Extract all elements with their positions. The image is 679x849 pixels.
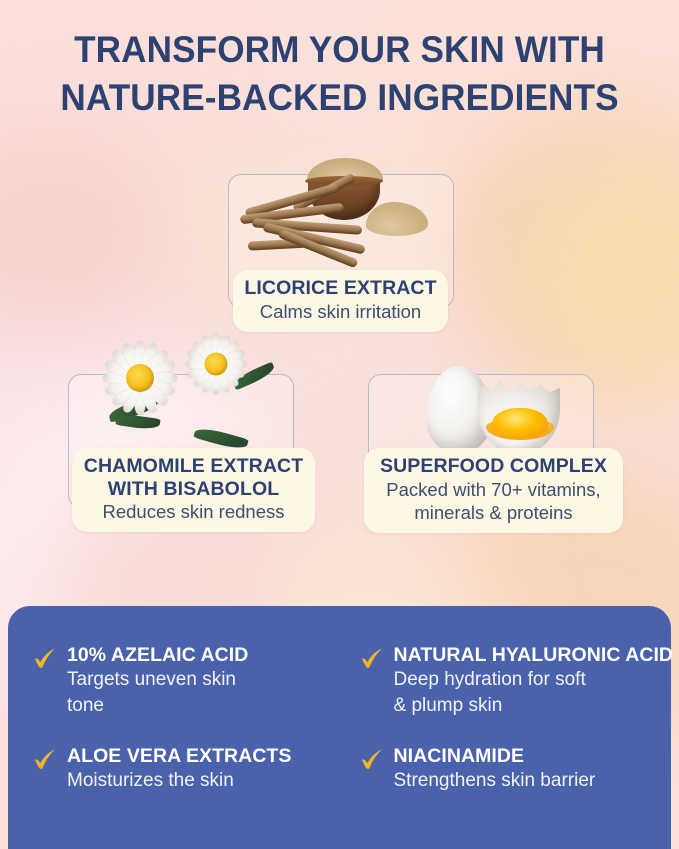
benefit-item: 10% AZELAIC ACID Targets uneven skin ton… — [32, 644, 345, 717]
benefit-description-line-1: Targets uneven skin — [67, 668, 345, 691]
ingredient-title-line-1: CHAMOMILE EXTRACT — [82, 455, 305, 478]
flower-center — [126, 364, 154, 392]
benefits-panel: 10% AZELAIC ACID Targets uneven skin ton… — [8, 606, 671, 849]
benefit-description-line-1: Moisturizes the skin — [67, 769, 345, 792]
check-icon — [32, 746, 58, 772]
benefit-title: NIACINAMIDE — [394, 745, 658, 767]
page-title-line-1: TRANSFORM YOUR SKIN WITH — [74, 29, 605, 70]
leaf — [115, 413, 160, 431]
benefit-description-line-1: Deep hydration for soft — [394, 668, 674, 691]
benefit-description-line-2: & plump skin — [394, 694, 674, 717]
benefit-title: ALOE VERA EXTRACTS — [67, 745, 345, 767]
benefits-right-column: NATURAL HYALURONIC ACID Deep hydration f… — [345, 644, 658, 849]
ingredient-label-licorice: LICORICE EXTRACT Calms skin irritation — [233, 270, 448, 332]
ingredient-label-superfood: SUPERFOOD COMPLEX Packed with 70+ vitami… — [364, 448, 623, 533]
ingredient-description: Reduces skin redness — [82, 501, 305, 523]
licorice-sticks-and-powder-bowl-image — [236, 152, 446, 280]
benefit-item: NIACINAMIDE Strengthens skin barrier — [359, 745, 658, 793]
page-title-line-2: NATURE-BACKED INGREDIENTS — [17, 74, 662, 122]
chamomile-daisy-flowers-image — [110, 356, 280, 461]
benefits-left-column: 10% AZELAIC ACID Targets uneven skin ton… — [32, 644, 345, 849]
benefit-item: NATURAL HYALURONIC ACID Deep hydration f… — [359, 644, 658, 717]
check-icon — [359, 746, 385, 772]
benefit-title: NATURAL HYALURONIC ACID — [394, 644, 674, 666]
ingredient-title-line-2: WITH BISABOLOL — [82, 478, 305, 501]
ingredient-title: LICORICE EXTRACT — [243, 277, 438, 300]
flower-center — [205, 353, 228, 376]
licorice-powder-pile — [366, 202, 428, 236]
check-icon — [32, 645, 58, 671]
ingredient-description-line-1: Packed with 70+ vitamins, — [374, 479, 613, 501]
egg-yolk — [492, 408, 548, 438]
ingredient-description-line-2: minerals & proteins — [374, 502, 613, 524]
ingredient-title: SUPERFOOD COMPLEX — [374, 455, 613, 478]
check-icon — [359, 645, 385, 671]
benefit-description-line-2: tone — [67, 694, 345, 717]
ingredient-label-chamomile: CHAMOMILE EXTRACT WITH BISABOLOL Reduces… — [72, 448, 315, 532]
benefit-description-line-1: Strengthens skin barrier — [394, 769, 658, 792]
benefit-item: ALOE VERA EXTRACTS Moisturizes the skin — [32, 745, 345, 793]
benefit-title: 10% AZELAIC ACID — [67, 644, 345, 666]
ingredient-description: Calms skin irritation — [243, 301, 438, 323]
page-title: TRANSFORM YOUR SKIN WITH NATURE-BACKED I… — [17, 26, 662, 122]
